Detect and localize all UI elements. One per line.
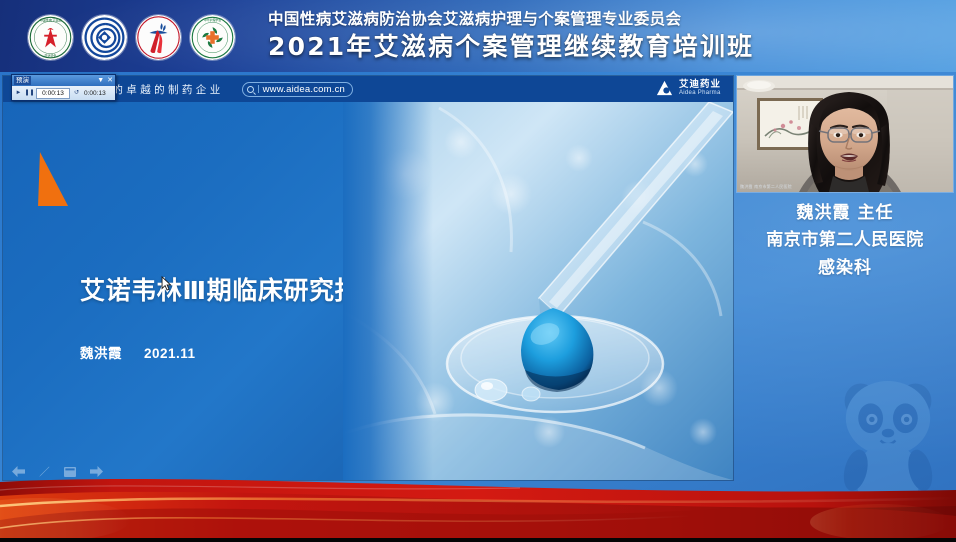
close-icon[interactable]: ✕ — [107, 76, 113, 85]
red-ribbon-figure-logo — [136, 15, 181, 60]
previous-slide-icon[interactable] — [12, 466, 25, 477]
photo-edge-fade — [343, 102, 433, 480]
green-cross-health-logo: 中华护理学会 — [190, 15, 235, 60]
total-time-label: 0:00:13 — [83, 90, 106, 97]
slideshow-navigation[interactable] — [12, 466, 103, 477]
blue-spiral-logo — [82, 15, 127, 60]
speaker-webcam-feed[interactable]: 魏洪霞 南京市第二人民医院 — [737, 76, 953, 192]
banner-organization-line: 中国性病艾滋病防治协会艾滋病护理与个案管理专业委员会 — [268, 9, 754, 29]
orange-triangle-accent — [38, 152, 70, 206]
aidea-brand-cn: 艾迪药业 — [679, 80, 721, 90]
slide-time-field[interactable]: 0:00:13 — [36, 88, 70, 99]
lab-pipette-photo — [343, 102, 733, 480]
presentation-broadcast-screen: 中国性病艾滋病 防治协会 — [0, 0, 956, 542]
rehearsal-title-label: 预演 — [14, 76, 31, 85]
red-ribbon-footer — [0, 476, 956, 542]
speaker-department: 感染科 — [737, 254, 953, 282]
event-banner: 中国性病艾滋病 防治协会 — [0, 0, 956, 72]
bottom-letterbox-bar — [0, 538, 956, 542]
rehearsal-titlebar[interactable]: 预演 ▼ ✕ — [12, 75, 115, 86]
speaker-info: 魏洪霞 主任 南京市第二人民医院 感染科 — [737, 200, 953, 282]
search-icon — [247, 86, 254, 93]
mouse-cursor — [161, 276, 172, 292]
slide-author-name: 魏洪霞 — [80, 346, 122, 362]
banner-text-block: 中国性病艾滋病防治协会艾滋病护理与个案管理专业委员会 2021年艾滋病个案管理继… — [268, 9, 754, 63]
slide-author-line: 魏洪霞2021.11 — [80, 342, 196, 362]
next-slide-button[interactable]: ► — [14, 88, 23, 98]
divider — [258, 85, 259, 93]
presentation-slide[interactable]: 成为受人尊敬的卓越的制药企业 www.aidea.com.cn 艾迪药业 Aid… — [3, 76, 733, 480]
china-std-aids-association-logo: 中国性病艾滋病 防治协会 — [28, 15, 73, 60]
slide-title: 艾诺韦林Ⅲ期临床研究报告 — [80, 271, 386, 307]
webcam-watermark: 魏洪霞 南京市第二人民医院 — [740, 184, 792, 190]
svg-text:防治协会: 防治协会 — [45, 52, 57, 57]
aidea-brand-en: Aidea Pharma — [679, 90, 721, 96]
slide-website-pill: www.aidea.com.cn — [242, 82, 353, 97]
pen-annotation-icon[interactable] — [39, 466, 50, 477]
svg-text:中国性病艾滋病: 中国性病艾滋病 — [40, 17, 62, 22]
speaker-organization: 南京市第二人民医院 — [737, 226, 953, 254]
svg-text:中华护理学会: 中华护理学会 — [204, 17, 222, 22]
slide-website-url: www.aidea.com.cn — [263, 84, 345, 95]
pause-button[interactable]: ❚❚ — [25, 88, 34, 98]
aidea-pharma-logo: 艾迪药业 Aidea Pharma — [655, 79, 721, 98]
rehearsal-controls[interactable]: ► ❚❚ 0:00:13 ↺ 0:00:13 — [12, 86, 115, 100]
aidea-triangle-icon — [655, 79, 674, 98]
chevron-down-icon[interactable]: ▼ — [97, 76, 104, 85]
speaker-name-title: 魏洪霞 主任 — [737, 200, 953, 226]
organization-logos: 中国性病艾滋病 防治协会 — [28, 15, 235, 60]
banner-title-line: 2021年艾滋病个案管理继续教育培训班 — [268, 31, 754, 63]
next-slide-icon[interactable] — [90, 466, 103, 477]
rehearsal-timing-toolbar[interactable]: 预演 ▼ ✕ ► ❚❚ 0:00:13 ↺ 0:00:13 — [11, 74, 116, 101]
slideshow-menu-icon[interactable] — [64, 467, 76, 477]
repeat-icon[interactable]: ↺ — [72, 88, 81, 98]
slide-date: 2021.11 — [144, 346, 196, 361]
